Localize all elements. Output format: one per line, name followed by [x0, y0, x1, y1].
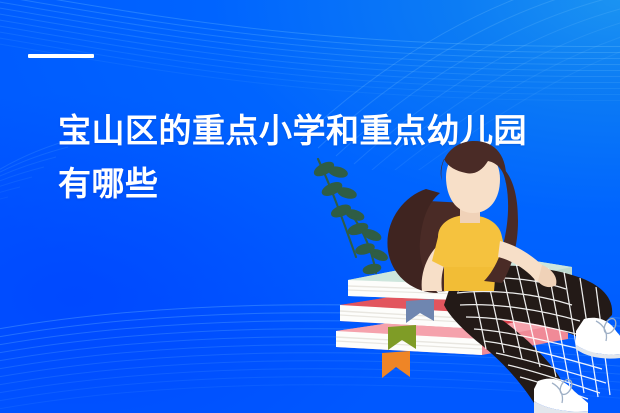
shoe-front [534, 378, 588, 413]
accent-rule [28, 54, 94, 58]
shoe-back [576, 317, 620, 359]
bookmark-orange-icon [382, 351, 410, 378]
illustration-woman-on-books [310, 141, 620, 413]
promo-banner: 宝山区的重点小学和重点幼儿园 有哪些 [0, 0, 620, 413]
plant-leaves-icon [313, 159, 388, 275]
